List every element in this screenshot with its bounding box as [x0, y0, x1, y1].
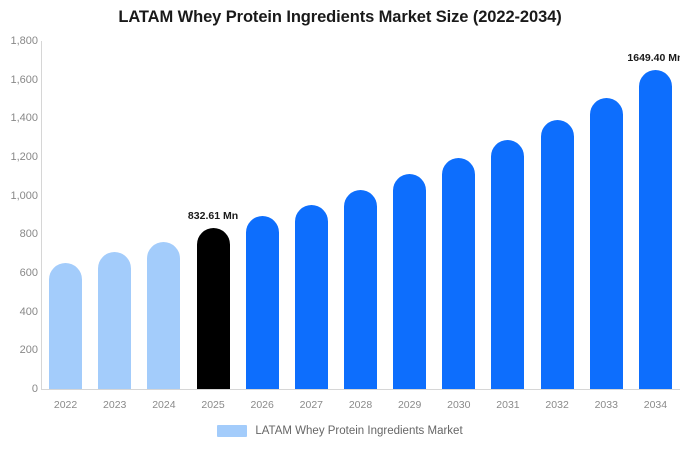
bar-2024[interactable] [147, 242, 180, 389]
x-axis-tick: 2032 [545, 399, 568, 411]
bar-2030[interactable] [442, 158, 475, 389]
x-axis-tick: 2024 [152, 399, 175, 411]
y-axis-tick: 1,800 [2, 35, 38, 47]
y-axis-tick: 1,000 [2, 190, 38, 202]
y-axis-tick: 600 [2, 267, 38, 279]
y-axis-tick: 200 [2, 344, 38, 356]
bar-2025[interactable] [197, 228, 230, 389]
bar-2023[interactable] [98, 252, 131, 389]
x-axis-tick: 2025 [201, 399, 224, 411]
y-axis-tick: 1,200 [2, 151, 38, 163]
y-axis-tick-labels: 1,8001,6001,4001,2001,0008006004002000 [0, 0, 38, 450]
x-axis-tick: 2034 [644, 399, 667, 411]
y-axis-tick: 0 [2, 383, 38, 395]
bar-2027[interactable] [295, 205, 328, 389]
legend-label: LATAM Whey Protein Ingredients Market [255, 425, 462, 437]
legend-swatch [217, 425, 247, 437]
x-axis-tick: 2033 [595, 399, 618, 411]
bar-2033[interactable] [590, 98, 623, 389]
chart-container: LATAM Whey Protein Ingredients Market Si… [0, 0, 680, 450]
x-axis-tick: 2030 [447, 399, 470, 411]
x-axis-tick: 2029 [398, 399, 421, 411]
bar-2022[interactable] [49, 263, 82, 389]
y-axis-tick: 400 [2, 306, 38, 318]
x-axis-tick: 2031 [496, 399, 519, 411]
x-axis-tick: 2027 [300, 399, 323, 411]
bars-layer: 2022202320242025832.61 Mn202620272028202… [41, 0, 680, 450]
x-axis-tick: 2023 [103, 399, 126, 411]
chart-legend: LATAM Whey Protein Ingredients Market [0, 425, 680, 437]
y-axis-tick: 1,400 [2, 112, 38, 124]
bar-2026[interactable] [246, 216, 279, 389]
x-axis-tick: 2022 [54, 399, 77, 411]
x-axis-tick: 2026 [251, 399, 274, 411]
bar-2031[interactable] [491, 140, 524, 389]
x-axis-tick: 2028 [349, 399, 372, 411]
y-axis-tick: 800 [2, 228, 38, 240]
bar-2028[interactable] [344, 190, 377, 389]
data-label-2034: 1649.40 Mn [627, 52, 680, 64]
bar-2034[interactable] [639, 70, 672, 389]
bar-2032[interactable] [541, 120, 574, 389]
data-label-2025: 832.61 Mn [188, 210, 238, 222]
bar-2029[interactable] [393, 174, 426, 389]
y-axis-tick: 1,600 [2, 74, 38, 86]
